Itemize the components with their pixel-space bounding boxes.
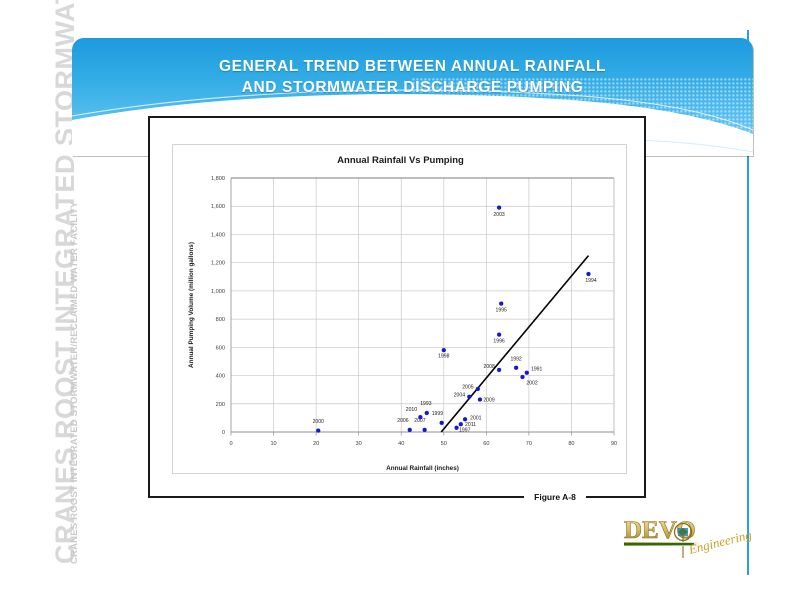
x-tick-label: 50 [441,441,447,447]
data-point [455,426,459,430]
figure-caption: Figure A-8 [524,492,586,502]
data-point [499,302,503,306]
y-tick-label: 0 [222,430,225,436]
data-point-label: 1999 [432,411,443,417]
data-point [425,411,429,415]
data-point-label: 2000 [313,419,324,425]
data-point-label: 2008 [484,364,495,370]
data-point-label: 2006 [397,418,408,424]
x-tick-label: 20 [313,441,319,447]
page-title-line1: GENERAL TREND BETWEEN ANNUAL RAINFALL [219,58,606,75]
y-tick-label: 400 [216,374,225,380]
data-point-label: 2009 [483,398,494,404]
data-point [478,398,482,402]
data-point-label: 2004 [454,393,465,399]
devo-script: Engineering [686,527,752,557]
y-tick-label: 1,000 [211,289,225,295]
x-tick-label: 90 [611,441,617,447]
y-tick-label: 1,200 [211,261,225,267]
data-point-label: 1998 [438,353,449,359]
x-tick-label: 0 [229,441,232,447]
data-point [514,366,518,370]
devo-logo: DEVO Engineering [620,512,752,568]
data-point-label: 2010 [406,407,417,413]
y-axis-title: Annual Pumping Volume (million gallons) [188,242,195,368]
data-point [476,387,480,391]
data-point [408,428,412,432]
y-tick-label: 600 [216,345,225,351]
slide-page: CRANES ROOST INTEGRATED STORMWATER CRANE… [0,0,800,600]
y-tick-label: 1,400 [211,232,225,238]
figure-frame: Annual Rainfall Vs Pumping 0200400600800… [148,116,646,498]
data-point-label: 1995 [496,307,507,313]
y-tick-label: 1,600 [211,204,225,210]
data-point-label: 1996 [493,338,504,344]
data-point [497,206,501,210]
data-point-label: 1991 [531,366,542,372]
figure-caption-wrap: Figure A-8 [150,487,648,505]
data-point-label: 1993 [420,401,431,407]
data-point [497,333,501,337]
chart-plot-area: 02004006008001,0001,2001,4001,6001,80001… [173,145,628,475]
data-point [463,417,467,421]
devo-logo-graphic: DEVO Engineering [620,512,752,568]
x-tick-label: 80 [568,441,574,447]
sidebar-sub-title: CRANES ROOST INTEGRATED STORMWATER/RECLA… [70,201,80,564]
page-title: GENERAL TREND BETWEEN ANNUAL RAINFALL AN… [72,56,753,98]
data-point [525,371,529,375]
data-point [418,415,422,419]
scatter-plot: 02004006008001,0001,2001,4001,6001,80001… [173,145,628,475]
data-point-label: 1992 [510,357,521,363]
sidebar-watermark: CRANES ROOST INTEGRATED STORMWATER CRANE… [0,0,72,600]
data-point-label: 2002 [526,381,537,387]
data-point [586,272,590,276]
data-point-label: 1994 [585,278,596,284]
data-point [423,428,427,432]
x-axis-title: Annual Rainfall (inches) [386,465,459,472]
y-tick-label: 800 [216,317,225,323]
chart-container: Annual Rainfall Vs Pumping 0200400600800… [172,144,627,474]
data-point [440,421,444,425]
data-point [459,422,463,426]
data-point-label: 2003 [493,212,504,218]
data-point [442,348,446,352]
y-tick-label: 200 [216,402,225,408]
x-tick-label: 40 [398,441,404,447]
data-point [316,429,320,433]
x-tick-label: 30 [356,441,362,447]
y-tick-label: 1,800 [211,176,225,182]
data-point-label: 2005 [462,385,473,391]
x-tick-label: 60 [483,441,489,447]
data-point [497,368,501,372]
x-tick-label: 70 [526,441,532,447]
page-title-line2: AND STORMWATER DISCHARGE PUMPING [72,77,753,98]
data-point [467,395,471,399]
x-tick-label: 10 [270,441,276,447]
data-point [521,375,525,379]
data-point-label: 2011 [465,422,476,428]
trendline [441,256,588,432]
data-point-label: 1997 [459,428,470,434]
data-point-label: 2001 [470,416,481,422]
